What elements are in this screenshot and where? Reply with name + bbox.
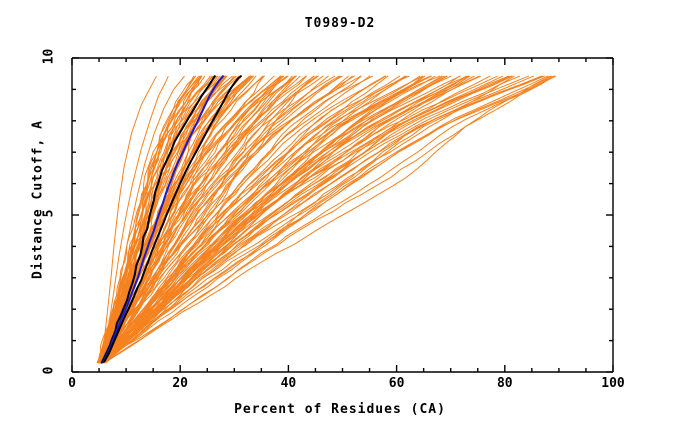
x-tick-label: 20 (158, 376, 202, 391)
x-tick-label: 0 (50, 376, 94, 391)
y-tick-label: 10 (42, 42, 57, 72)
y-tick-label: 5 (42, 199, 57, 229)
x-axis-label: Percent of Residues (CA) (0, 402, 680, 417)
background-curve (102, 76, 529, 362)
plot-canvas (0, 0, 680, 440)
x-tick-label: 80 (483, 376, 527, 391)
background-curve-group (97, 76, 556, 362)
x-tick-label: 60 (375, 376, 419, 391)
x-tick-label: 100 (591, 376, 635, 391)
y-tick-label: 0 (42, 356, 57, 386)
x-tick-label: 40 (266, 376, 310, 391)
chart-figure: T0989-D2 Distance Cutoff, A Percent of R… (0, 0, 680, 440)
